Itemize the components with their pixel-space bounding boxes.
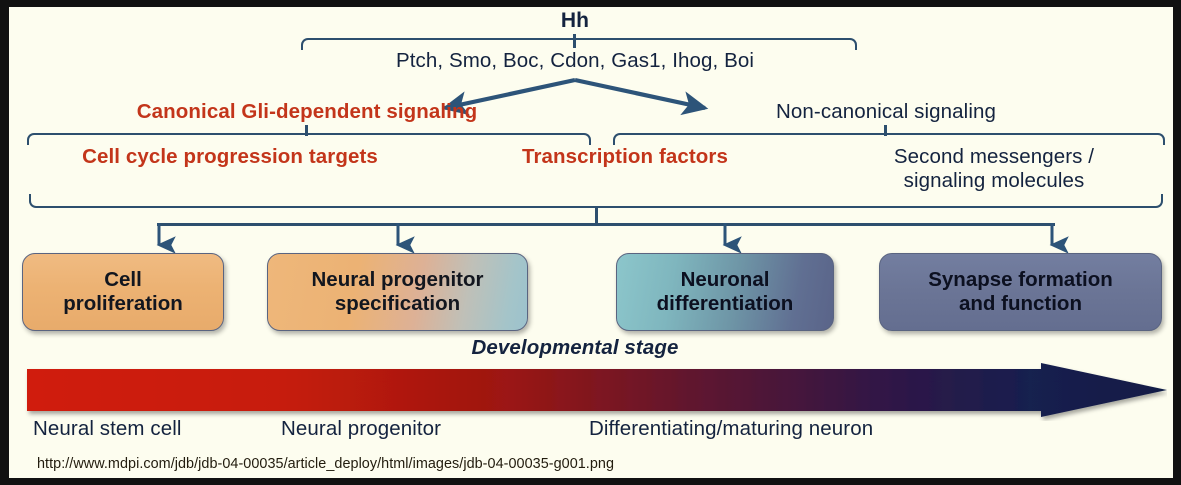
cell-cycle-targets-label: Cell cycle progression targets (82, 146, 378, 169)
noncanonical-branch-label: Non-canonical signaling (776, 101, 996, 124)
canonical-effector-bracket (27, 133, 591, 145)
developmental-stage-label: Developmental stage (472, 337, 679, 360)
second-messengers-label-line2: signaling molecules (904, 170, 1085, 193)
outcome-box-neural-progenitor-specification[interactable]: Neural progenitor specification (267, 253, 528, 331)
stage-label-neural-stem-cell: Neural stem cell (33, 418, 182, 441)
canonical-branch-label: Canonical Gli-dependent signaling (137, 101, 477, 124)
transcription-factors-label: Transcription factors (522, 146, 728, 169)
source-url-caption: http://www.mdpi.com/jdb/jdb-04-00035/art… (37, 456, 614, 472)
outcome-box-line2: differentiation (657, 292, 794, 315)
stage-label-neural-progenitor: Neural progenitor (281, 418, 441, 441)
outcome-box-line2: proliferation (63, 292, 183, 315)
outcome-box-line1: Neuronal (681, 268, 770, 291)
figure-frame: Hh Ptch, Smo, Boc, Cdon, Gas1, Ihog, Boi… (0, 0, 1181, 485)
outcome-box-line1: Neural progenitor (312, 268, 484, 291)
stage-label-differentiating-neuron: Differentiating/maturing neuron (589, 418, 873, 441)
outcome-box-line2: specification (335, 292, 460, 315)
outcome-collector-bracket (29, 194, 1163, 208)
outcome-box-cell-proliferation[interactable]: Cell proliferation (22, 253, 224, 331)
outcome-box-line1: Synapse formation (928, 268, 1113, 291)
noncanonical-effector-bracket (613, 133, 1165, 145)
receptors-label: Ptch, Smo, Boc, Cdon, Gas1, Ihog, Boi (396, 50, 754, 73)
outcome-box-synapse-formation[interactable]: Synapse formation and function (879, 253, 1162, 331)
outcome-box-neuronal-differentiation[interactable]: Neuronal differentiation (616, 253, 834, 331)
outcome-box-line1: Cell (104, 268, 142, 291)
outcome-box-line2: and function (959, 292, 1082, 315)
outcome-arrows (9, 221, 1173, 257)
diagram-canvas: Hh Ptch, Smo, Boc, Cdon, Gas1, Ihog, Boi… (9, 7, 1173, 478)
developmental-stage-arrow (21, 363, 1167, 421)
ligand-label: Hh (561, 9, 589, 33)
second-messengers-label-line1: Second messengers / (894, 146, 1094, 169)
